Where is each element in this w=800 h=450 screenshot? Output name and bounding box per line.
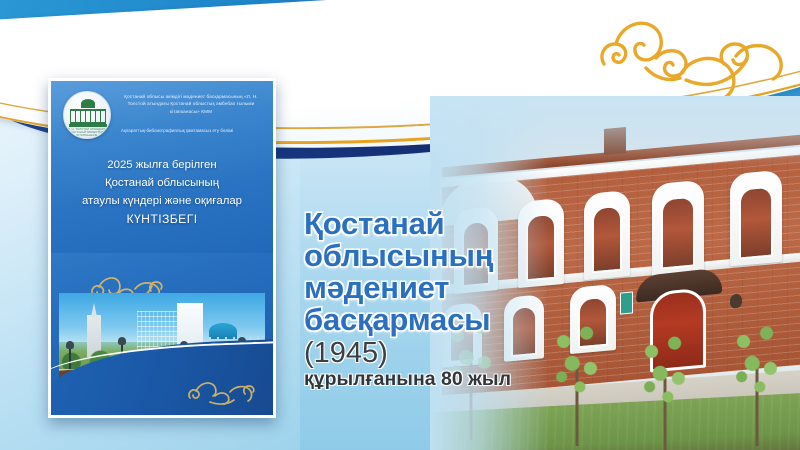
photo-wall-plaque — [620, 291, 633, 314]
photo-top-fade — [430, 96, 800, 166]
page-title: Қостанай облысының мәдениет басқармасы (… — [304, 208, 554, 391]
photo-window — [652, 180, 704, 277]
calendar-book-cover: Л. Н. ТОЛСТОЙ АТЫНДАҒЫ ҚОСТАНАЙ ОБЛЫСТЫҚ… — [48, 78, 276, 418]
book-title-line-4: КҮНТІЗБЕГІ — [59, 210, 265, 229]
book-cover-department-line: Ақпараттық-библиографиялық қамтамасыз ет… — [91, 128, 263, 135]
emblem-dome — [81, 99, 95, 108]
emblem-base — [69, 124, 107, 127]
photo-window — [730, 170, 782, 267]
photo-tree — [550, 326, 604, 446]
headline-line-1: Қостанай — [304, 208, 554, 240]
presentation-slide: Л. Н. ТОЛСТОЙ АТЫНДАҒЫ ҚОСТАНАЙ ОБЛЫСТЫҚ… — [0, 0, 800, 450]
photo-window — [584, 190, 630, 280]
photo-wall-lamp — [730, 293, 742, 308]
book-cover-org-line: Қостанай облысы әкімдігі мәдениет басқар… — [117, 93, 265, 115]
book-title-line-1: 2025 жылға берілген — [59, 157, 265, 175]
photo-tree — [730, 326, 784, 446]
headline-line-4: басқармасы — [304, 304, 554, 336]
headline-line-3: мәдениет — [304, 272, 554, 304]
kazakh-scroll-ornament-icon — [183, 379, 267, 409]
book-cover-title: 2025 жылға берілген Қостанай облысының а… — [59, 157, 265, 229]
photo-tree — [638, 316, 692, 450]
emblem-building — [70, 109, 106, 124]
book-title-line-2: Қостанай облысының — [59, 175, 265, 193]
headline-line-2: облысының — [304, 240, 554, 272]
headline-year: (1945) — [304, 338, 554, 368]
book-title-line-3: атаулы күндері және оқиғалар — [59, 193, 265, 211]
headline-subtitle: құрылғанына 80 жыл — [304, 369, 554, 391]
